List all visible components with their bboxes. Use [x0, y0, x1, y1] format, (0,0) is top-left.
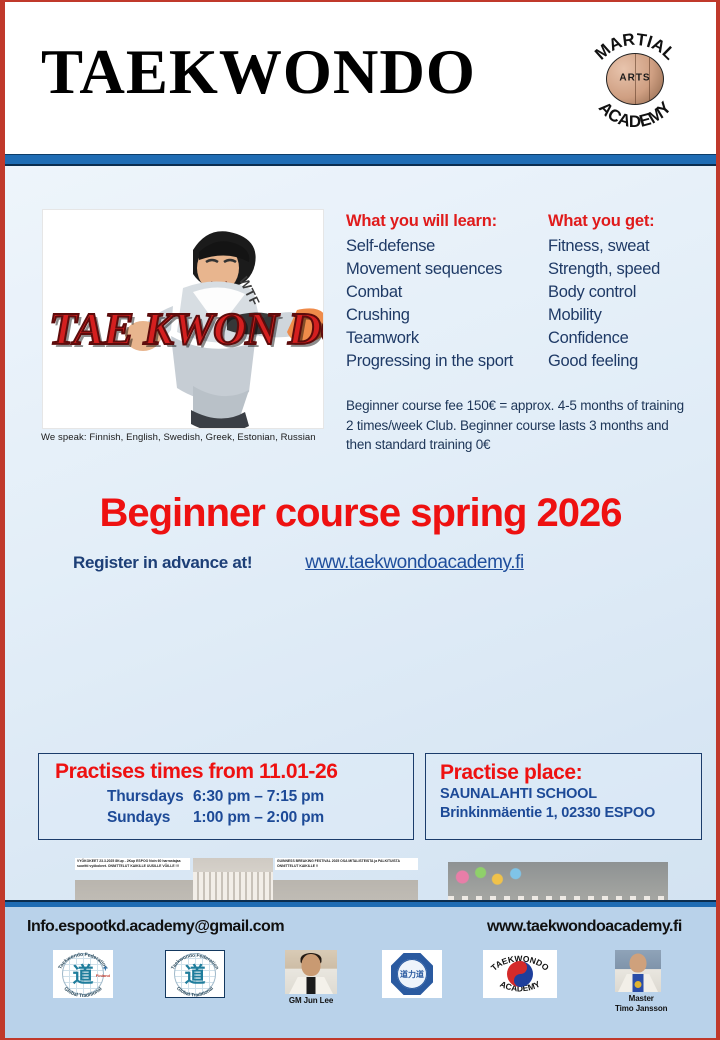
plus-badge: +: [103, 963, 108, 973]
schedule-row: Sundays 1:00 pm – 2:00 pm: [107, 808, 413, 829]
schedule-day: Thursdays: [107, 787, 193, 808]
get-item: Strength, speed: [548, 258, 718, 281]
header-divider: [5, 154, 716, 166]
martial-arts-academy-logo: MARTIAL ACADEMY ARTS: [580, 24, 690, 134]
schedule-time: 1:00 pm – 2:00 pm: [193, 808, 324, 829]
register-row: Register in advance at! www.taekwondoaca…: [5, 552, 716, 574]
master-timo-caption: MasterTimo Jansson: [615, 994, 667, 1014]
master-timo-photo: [615, 950, 661, 992]
footer-divider: [5, 902, 716, 907]
dao-glyph: 道: [73, 959, 94, 989]
logo-taekwondo-academy: TAEKWONDO ACADEMY: [483, 950, 557, 998]
practise-times-title: Practises times from 11.01-26: [55, 760, 413, 784]
learn-item: Teamwork: [346, 327, 541, 350]
register-label: Register in advance at!: [73, 553, 252, 573]
gm-jun-lee-caption: GM Jun Lee: [285, 996, 337, 1006]
logo-gm-jun-lee: GM Jun Lee: [285, 950, 337, 1006]
logo-octagon-emblem: 道力道: [382, 950, 442, 998]
collage-caption-left: VYÖKOKEET 23.3.2025 8Kup - 2Kup ESPOO No…: [75, 858, 190, 870]
practise-schedule: Thursdays 6:30 pm – 7:15 pm Sundays 1:00…: [107, 787, 413, 829]
learn-item: Combat: [346, 281, 541, 304]
register-url-link[interactable]: www.taekwondoacademy.fi: [305, 552, 524, 574]
logo-gtf-finland: Taekwondo Federation Global Traditional …: [53, 950, 113, 998]
octagon-plate: 道力道: [382, 950, 442, 998]
partner-logos: Taekwondo Federation Global Traditional …: [5, 950, 716, 1036]
main-headline: Beginner course spring 2026: [5, 491, 716, 536]
learn-item: Progressing in the sport: [346, 350, 541, 373]
get-item: Fitness, sweat: [548, 235, 718, 258]
yin-yang-icon: [507, 961, 533, 987]
octagon-icon: 道力道: [391, 953, 433, 995]
learn-column: What you will learn: Self-defense Moveme…: [346, 212, 541, 374]
taekwondo-wordmark: TAE KWON DO: [49, 306, 317, 352]
schedule-day: Sundays: [107, 808, 193, 829]
logo-gtf: Taekwondo Federation Global Traditional …: [165, 950, 225, 998]
contact-email[interactable]: Info.espootkd.academy@gmail.com: [27, 918, 284, 936]
poster-footer: Info.espootkd.academy@gmail.com www.taek…: [5, 900, 716, 1038]
schedule-row: Thursdays 6:30 pm – 7:15 pm: [107, 787, 413, 808]
gtf-finland-plate: Taekwondo Federation Global Traditional …: [53, 950, 113, 998]
get-item: Mobility: [548, 304, 718, 327]
logo-master-timo-jansson: MasterTimo Jansson: [615, 950, 667, 1014]
schedule-time: 6:30 pm – 7:15 pm: [193, 787, 324, 808]
learn-item: Movement sequences: [346, 258, 541, 281]
get-heading: What you get:: [548, 212, 718, 231]
dao-glyph: 道: [185, 959, 206, 989]
fist-icon: ARTS: [606, 53, 664, 105]
course-fee-text: Beginner course fee 150€ = approx. 4-5 m…: [346, 396, 691, 455]
venue-name: SAUNALAHTI SCHOOL: [440, 785, 701, 804]
taekwondo-hero-image: WTF TAE KWON DO: [43, 210, 323, 428]
poster: TAEKWONDO MARTIAL ACADEMY ARTS: [0, 0, 720, 1040]
we-speak-caption: We speak: Finnish, English, Swedish, Gre…: [41, 432, 331, 443]
venue-address: Brinkinmäentie 1, 02330 ESPOO: [440, 804, 701, 823]
finland-badge: Finland: [96, 973, 110, 978]
get-item: Confidence: [548, 327, 718, 350]
get-column: What you get: Fitness, sweat Strength, s…: [548, 212, 718, 374]
contact-website[interactable]: www.taekwondoacademy.fi: [487, 918, 682, 936]
taekwondo-academy-plate: TAEKWONDO ACADEMY: [483, 950, 557, 998]
practise-place-box: Practise place: SAUNALAHTI SCHOOL Brinki…: [425, 753, 702, 840]
practise-times-box: Practises times from 11.01-26 Thursdays …: [38, 753, 414, 840]
learn-item: Crushing: [346, 304, 541, 327]
practise-place-title: Practise place:: [440, 761, 701, 785]
gm-jun-lee-photo: [285, 950, 337, 994]
poster-header: TAEKWONDO MARTIAL ACADEMY ARTS: [5, 2, 716, 154]
logo-center-text: ARTS: [607, 73, 663, 84]
collage-caption-right: GUINNESS BREAKING FESTIVAL 2025 OSA MITA…: [275, 858, 418, 870]
page-title: TAEKWONDO: [41, 36, 476, 109]
gtf-plate: Taekwondo Federation Global Traditional …: [165, 950, 225, 998]
learn-heading: What you will learn:: [346, 212, 541, 231]
learn-item: Self-defense: [346, 235, 541, 258]
get-item: Body control: [548, 281, 718, 304]
get-item: Good feeling: [548, 350, 718, 373]
